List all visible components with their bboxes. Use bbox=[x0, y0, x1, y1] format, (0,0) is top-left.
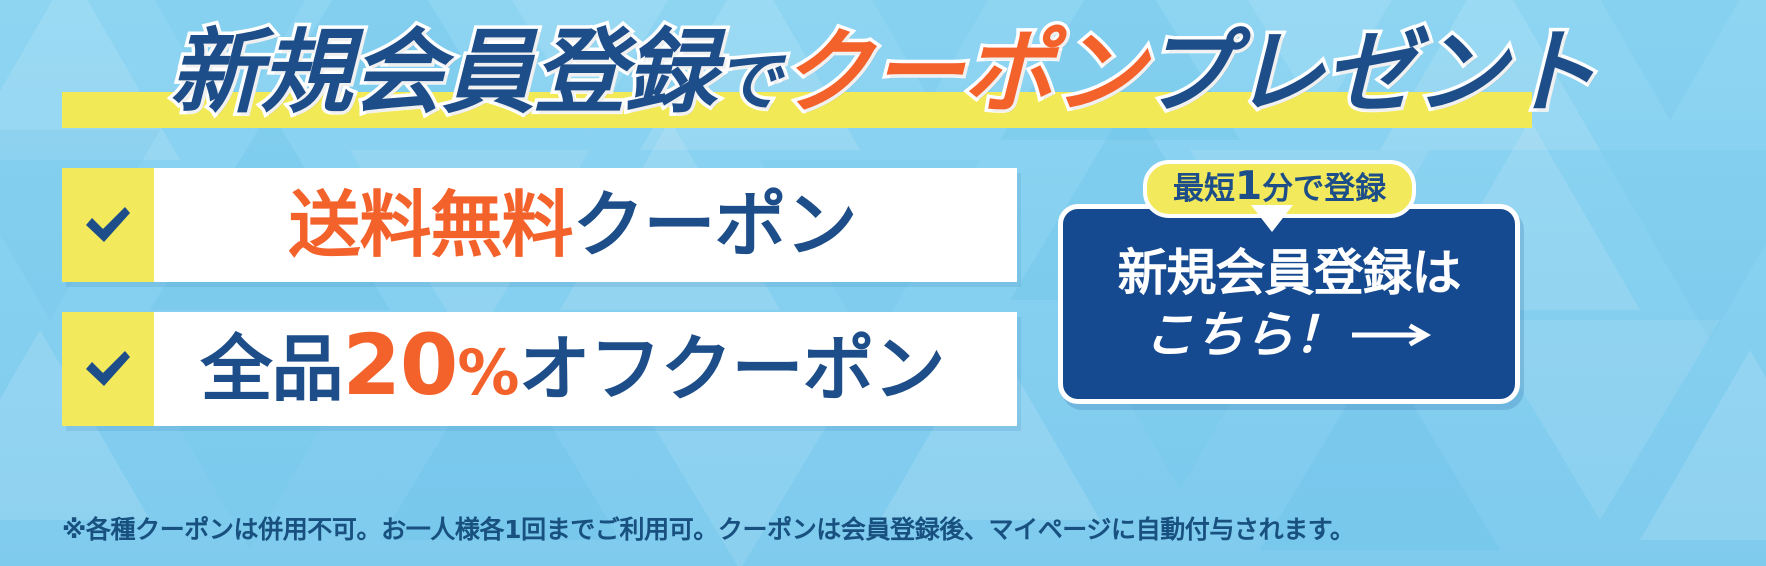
badge-prefix: 最短 bbox=[1173, 171, 1235, 207]
page-title: 新規会員登録でクーポンプレゼント bbox=[0, 14, 1766, 141]
cta-block: 最短1分で登録 新規会員登録は こちら！ bbox=[1058, 160, 1518, 400]
coupon-percent-sign: % bbox=[457, 336, 518, 409]
coupon-number-discount: 20 bbox=[342, 316, 457, 414]
check-box bbox=[62, 168, 154, 282]
check-icon bbox=[82, 199, 134, 251]
headline-particle: で bbox=[715, 43, 780, 120]
promo-banner: 新規会員登録でクーポンプレゼント 送料無料クーポン 全品20%オフクーポン 最短… bbox=[0, 0, 1766, 566]
coupon-row-shipping: 送料無料クーポン bbox=[62, 168, 1017, 282]
badge-suffix: 分で登録 bbox=[1262, 171, 1386, 207]
coupon-text-discount: 全品20%オフクーポン bbox=[154, 308, 1017, 430]
headline-part2: クーポン bbox=[780, 19, 1141, 126]
headline-block: 新規会員登録でクーポンプレゼント bbox=[0, 14, 1766, 134]
coupon-rest-discount: オフクーポン bbox=[519, 327, 945, 411]
coupon-highlight-shipping: 送料無料 bbox=[288, 183, 572, 267]
headline-part3: プレゼント bbox=[1142, 19, 1597, 126]
right-arrow-icon bbox=[1352, 323, 1434, 347]
badge-tail bbox=[1255, 207, 1289, 229]
coupon-text-shipping: 送料無料クーポン bbox=[154, 168, 1017, 282]
check-box bbox=[62, 312, 154, 426]
register-button[interactable]: 新規会員登録は こちら！ bbox=[1058, 204, 1520, 404]
coupon-rest-shipping: クーポン bbox=[573, 183, 857, 267]
coupon-row-discount: 全品20%オフクーポン bbox=[62, 312, 1017, 426]
cta-line-1: 新規会員登録は bbox=[1118, 242, 1461, 304]
check-icon bbox=[82, 343, 134, 395]
fineprint-note: ※各種クーポンは併用不可。お一人様各1回までご利用可。クーポンは会員登録後、マイ… bbox=[62, 513, 1562, 547]
headline-part1: 新規会員登録 bbox=[169, 19, 715, 126]
badge-number: 1 bbox=[1235, 164, 1262, 209]
cta-line-2: こちら！ bbox=[1144, 304, 1344, 366]
coupon-prefix-discount: 全品 bbox=[200, 327, 342, 411]
cta-line-2-row: こちら！ bbox=[1144, 304, 1434, 366]
